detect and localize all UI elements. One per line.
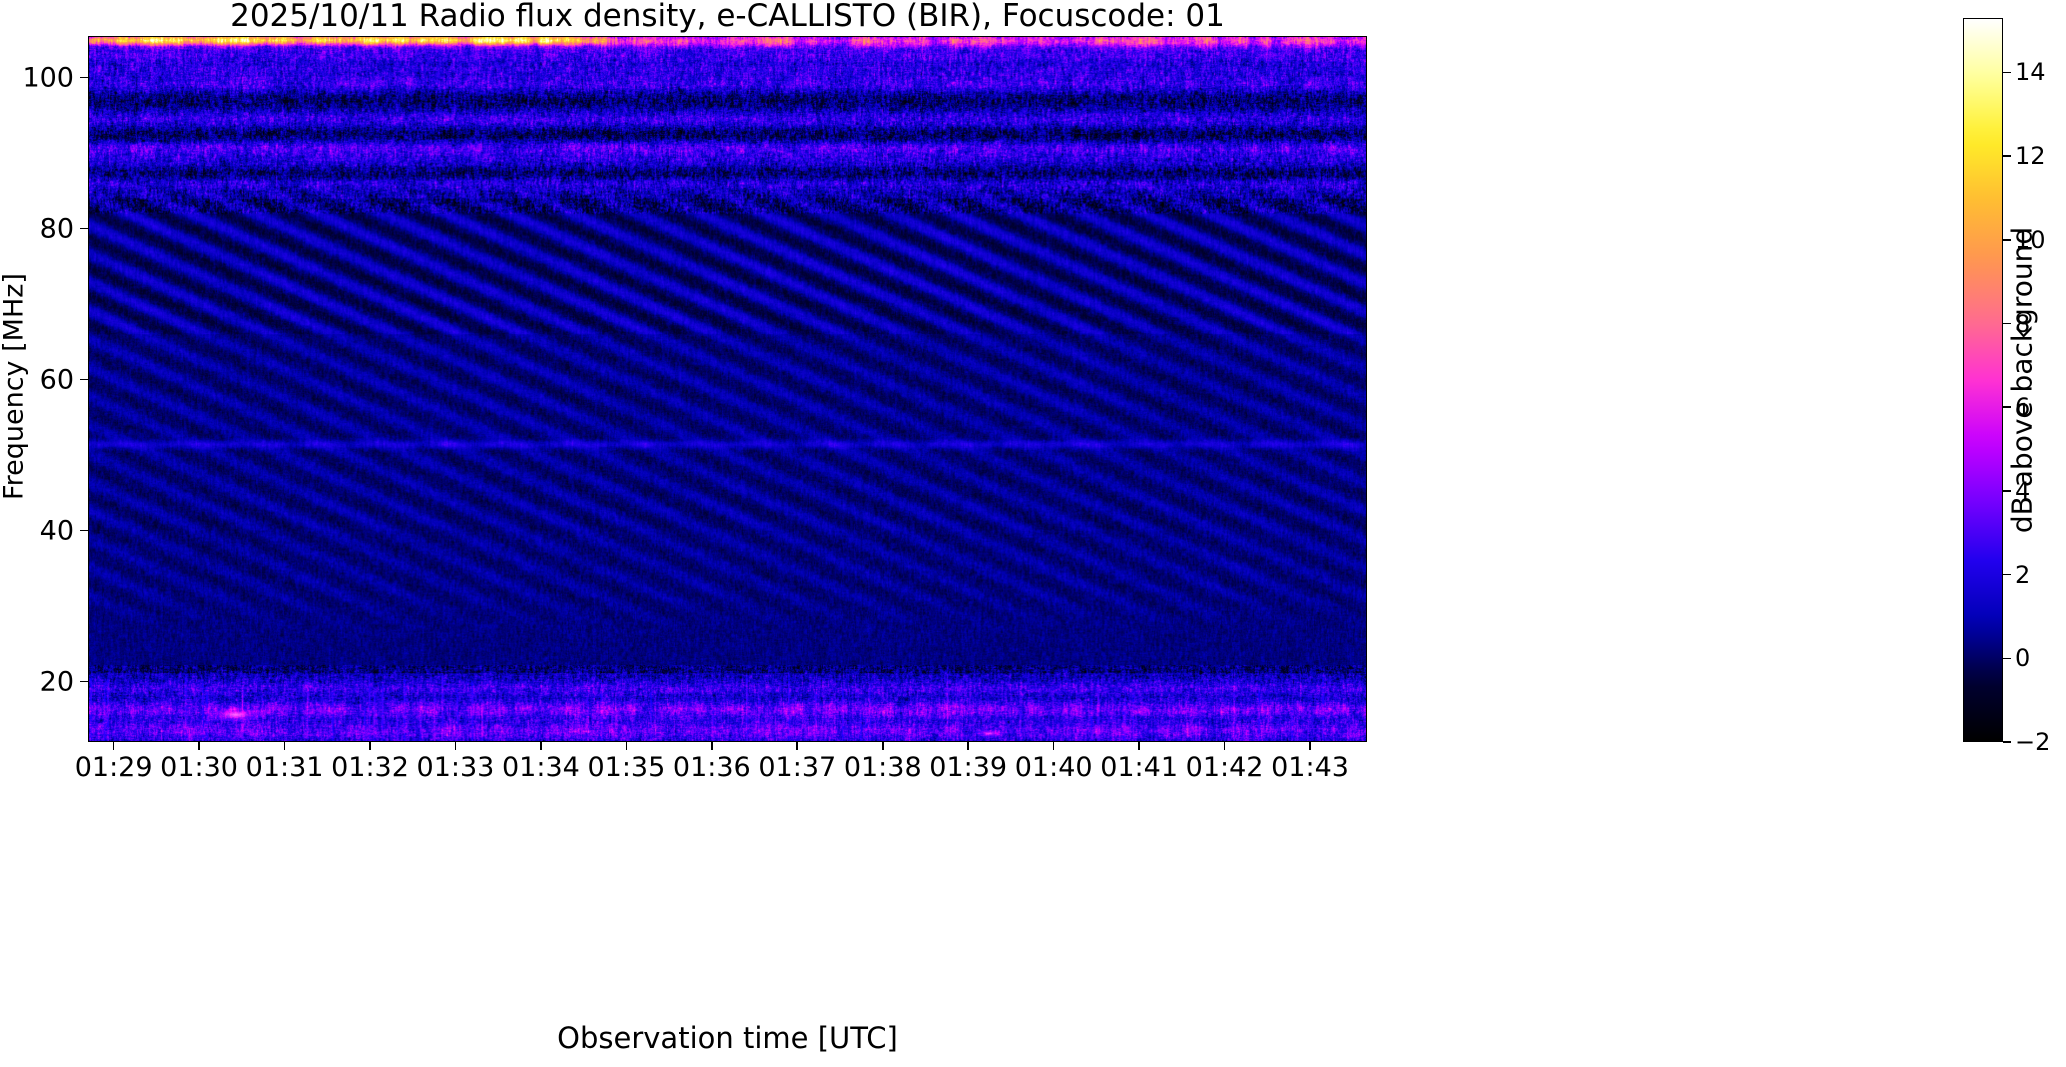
x-tick-mark bbox=[1053, 742, 1055, 750]
x-tick-label: 01:30 bbox=[160, 752, 238, 783]
x-tick-mark bbox=[284, 742, 286, 750]
colorbar-tick-mark bbox=[2003, 658, 2011, 660]
y-tick-mark bbox=[80, 681, 88, 683]
x-tick-mark bbox=[711, 742, 713, 750]
x-tick-label: 01:41 bbox=[1100, 752, 1178, 783]
x-tick-label: 01:35 bbox=[587, 752, 665, 783]
colorbar-tick-label: −2 bbox=[2015, 728, 2050, 756]
x-tick-mark bbox=[1224, 742, 1226, 750]
colorbar-tick-label: 2 bbox=[2015, 561, 2030, 589]
x-tick-label: 01:39 bbox=[929, 752, 1007, 783]
x-tick-label: 01:37 bbox=[758, 752, 836, 783]
x-tick-mark bbox=[967, 742, 969, 750]
spectrogram-axes bbox=[88, 36, 1367, 742]
colorbar-label: dB above background bbox=[2006, 227, 2039, 533]
y-tick-mark bbox=[80, 379, 88, 381]
x-tick-label: 01:34 bbox=[502, 752, 580, 783]
x-axis-label: Observation time [UTC] bbox=[88, 1021, 1367, 1055]
x-tick-mark bbox=[113, 742, 115, 750]
y-axis-label: Frequency [MHz] bbox=[0, 187, 30, 587]
x-tick-label: 01:38 bbox=[844, 752, 922, 783]
x-tick-mark bbox=[540, 742, 542, 750]
x-tick-label: 01:31 bbox=[246, 752, 324, 783]
x-tick-mark bbox=[455, 742, 457, 750]
x-tick-mark bbox=[1309, 742, 1311, 750]
colorbar: 14121086420−2 bbox=[1963, 18, 2003, 742]
y-tick-mark bbox=[80, 228, 88, 230]
chart-title: 2025/10/11 Radio flux density, e-CALLIST… bbox=[88, 0, 1367, 34]
spectrogram-image bbox=[89, 37, 1366, 741]
y-tick-label: 100 bbox=[22, 62, 74, 93]
y-tick-label: 60 bbox=[40, 364, 74, 395]
x-tick-mark bbox=[198, 742, 200, 750]
x-tick-label: 01:33 bbox=[417, 752, 495, 783]
colorbar-tick-mark bbox=[2003, 741, 2011, 743]
figure-canvas: 2025/10/11 Radio flux density, e-CALLIST… bbox=[0, 0, 2066, 1067]
x-tick-mark bbox=[796, 742, 798, 750]
colorbar-gradient bbox=[1963, 18, 2003, 742]
x-tick-label: 01:43 bbox=[1271, 752, 1349, 783]
colorbar-tick-label: 0 bbox=[2015, 644, 2030, 672]
colorbar-tick-mark bbox=[2003, 155, 2011, 157]
x-tick-mark bbox=[1138, 742, 1140, 750]
x-tick-mark bbox=[882, 742, 884, 750]
colorbar-tick-label: 14 bbox=[2015, 58, 2046, 86]
colorbar-tick-mark bbox=[2003, 72, 2011, 74]
y-tick-label: 80 bbox=[40, 213, 74, 244]
x-tick-label: 01:40 bbox=[1015, 752, 1093, 783]
x-tick-mark bbox=[626, 742, 628, 750]
x-tick-label: 01:29 bbox=[75, 752, 153, 783]
y-tick-mark bbox=[80, 530, 88, 532]
x-tick-mark bbox=[369, 742, 371, 750]
x-tick-label: 01:32 bbox=[331, 752, 409, 783]
y-tick-label: 40 bbox=[40, 515, 74, 546]
colorbar-tick-label: 12 bbox=[2015, 142, 2046, 170]
x-tick-label: 01:42 bbox=[1186, 752, 1264, 783]
x-tick-label: 01:36 bbox=[673, 752, 751, 783]
y-tick-label: 20 bbox=[40, 666, 74, 697]
colorbar-tick-mark bbox=[2003, 574, 2011, 576]
y-tick-mark bbox=[80, 77, 88, 79]
